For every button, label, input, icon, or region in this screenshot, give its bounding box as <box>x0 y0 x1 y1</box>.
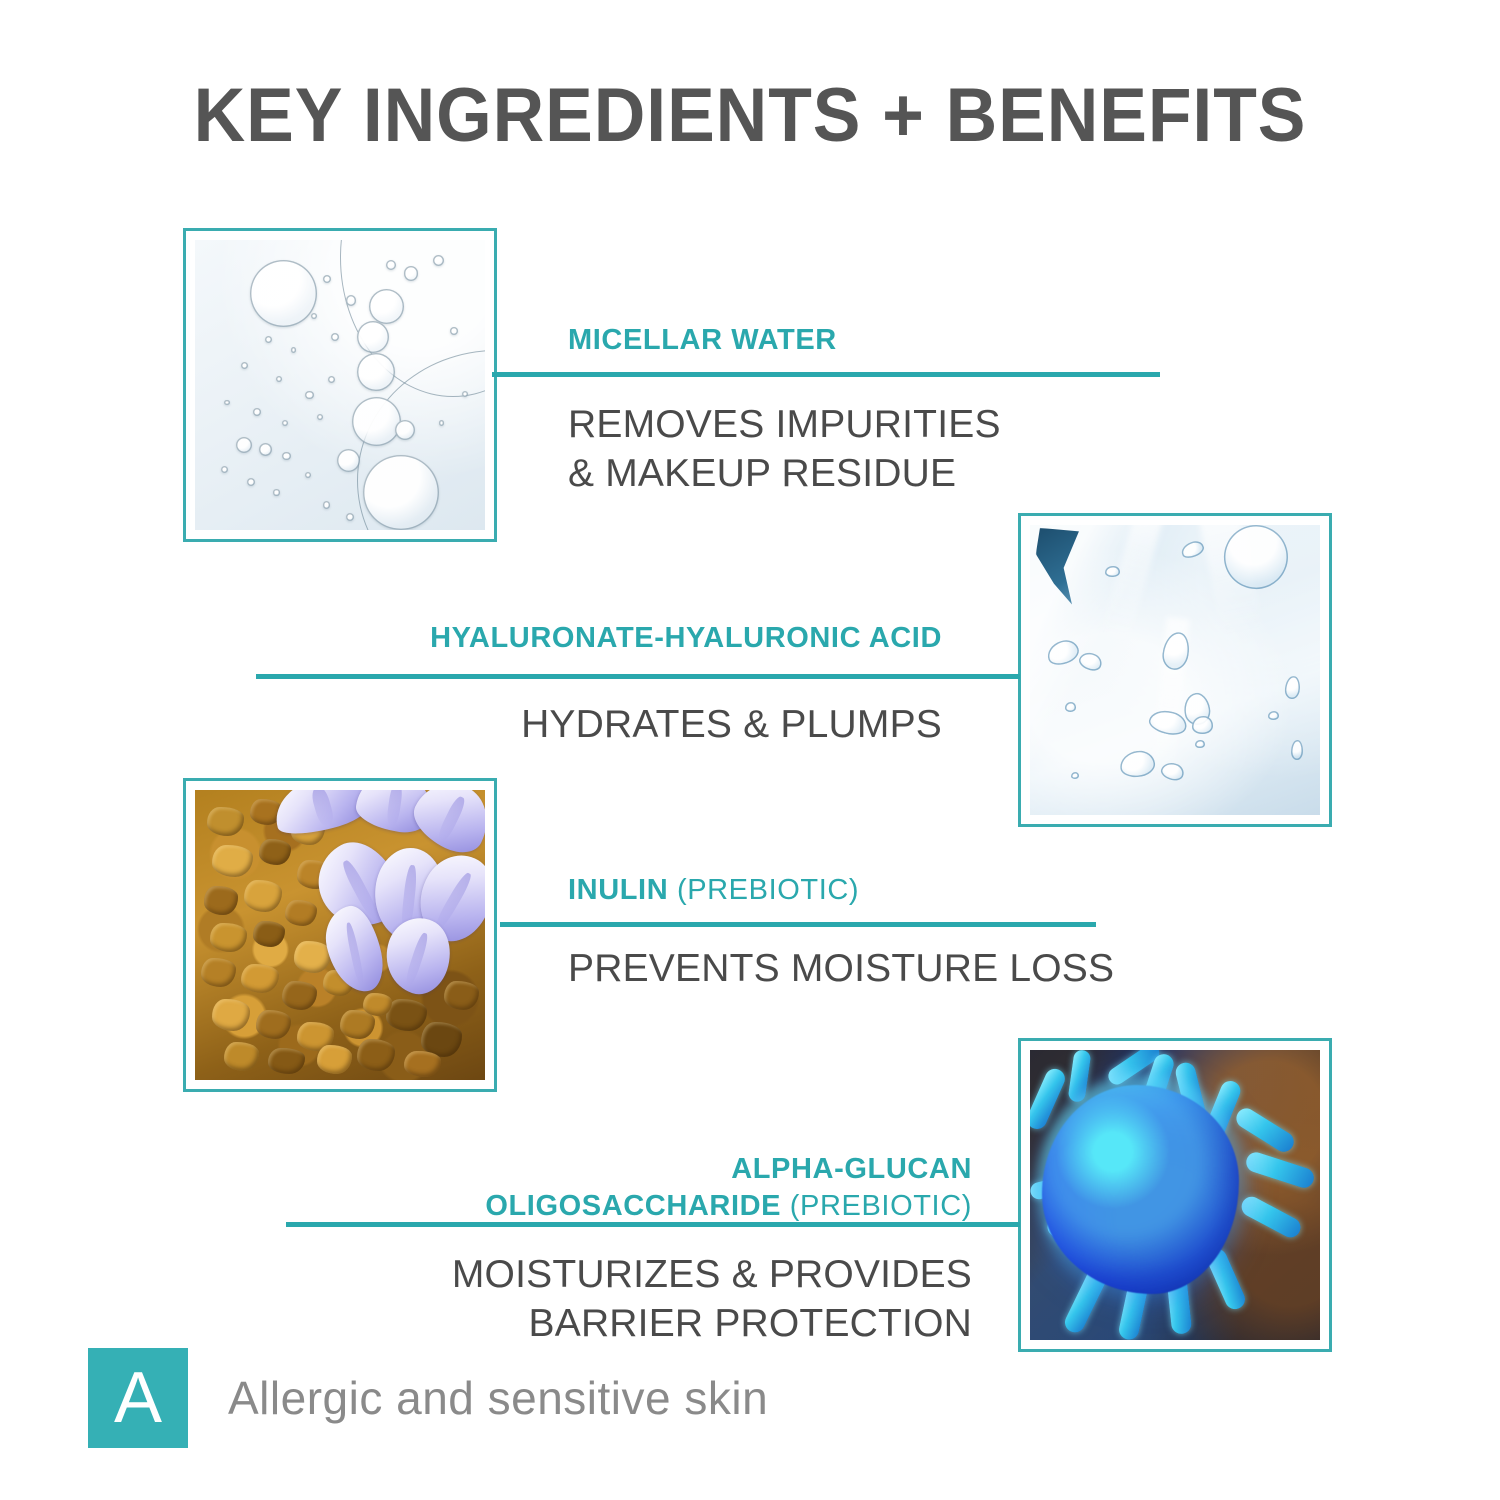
skin-type-label: Allergic and sensitive skin <box>228 1371 768 1425</box>
connector-rule-2 <box>256 674 1020 679</box>
skin-type-footer: A Allergic and sensitive skin <box>88 1348 768 1448</box>
page-title: KEY INGREDIENTS + BENEFITS <box>45 72 1455 159</box>
gel-texture <box>1030 525 1320 815</box>
ingredient-text-1: MICELLAR WATER <box>568 322 1188 359</box>
ingredient-image-hyaluronic-acid <box>1018 513 1332 827</box>
ingredient-name-4-qualifier: (PREBIOTIC) <box>790 1190 972 1222</box>
ingredient-name-3-qualifier: (PREBIOTIC) <box>677 874 859 906</box>
benefit-text-2: HYDRATES & PLUMPS <box>256 700 942 749</box>
gel-dark-shape <box>1036 528 1106 615</box>
alpha-glucan-photo <box>1030 1050 1320 1340</box>
ingredient-text-3: INULIN (PREBIOTIC) <box>568 872 1128 909</box>
ingredient-text-4: ALPHA-GLUCAN OLIGOSACCHARIDE (PREBIOTIC) <box>286 1114 972 1225</box>
ingredient-image-alpha-glucan-oligosaccharide <box>1018 1038 1332 1352</box>
ingredient-image-micellar-water <box>183 228 497 542</box>
ingredient-name-3: INULIN (PREBIOTIC) <box>568 872 1128 909</box>
inulin-photo <box>195 790 485 1080</box>
ingredient-text-2: HYALURONATE-HYALURONIC ACID <box>256 620 942 657</box>
benefit-text-3: PREVENTS MOISTURE LOSS <box>568 944 1148 993</box>
micellar-water-photo <box>195 240 485 530</box>
benefit-label-3: PREVENTS MOISTURE LOSS <box>568 944 1148 993</box>
benefit-label-1: REMOVES IMPURITIES & MAKEUP RESIDUE <box>568 400 1188 498</box>
ingredients-benefits-poster: KEY INGREDIENTS + BENEFITS <box>0 0 1500 1500</box>
allergy-badge: A <box>88 1348 188 1448</box>
ingredient-name-1-main: MICELLAR WATER <box>568 324 837 356</box>
microbe-render <box>1030 1050 1320 1340</box>
microbe-glow <box>1036 1073 1251 1305</box>
benefit-label-2: HYDRATES & PLUMPS <box>256 700 942 749</box>
hyaluronic-acid-photo <box>1030 525 1320 815</box>
ingredient-name-2: HYALURONATE-HYALURONIC ACID <box>256 620 942 657</box>
ingredient-image-inulin <box>183 778 497 1092</box>
ingredient-name-2-main: HYALURONATE-HYALURONIC ACID <box>430 622 942 654</box>
benefit-text-4: MOISTURIZES & PROVIDES BARRIER PROTECTIO… <box>286 1250 972 1348</box>
connector-rule-3 <box>500 922 1096 927</box>
bubble-texture <box>195 240 485 530</box>
connector-rule-1 <box>492 372 1160 377</box>
benefit-label-4: MOISTURIZES & PROVIDES BARRIER PROTECTIO… <box>286 1250 972 1348</box>
benefit-text-1: REMOVES IMPURITIES & MAKEUP RESIDUE <box>568 400 1188 498</box>
ingredient-name-4: ALPHA-GLUCAN OLIGOSACCHARIDE (PREBIOTIC) <box>286 1114 972 1225</box>
chicory-granules-texture <box>195 790 485 1080</box>
ingredient-name-1: MICELLAR WATER <box>568 322 1188 359</box>
ingredient-name-3-main: INULIN <box>568 874 668 906</box>
